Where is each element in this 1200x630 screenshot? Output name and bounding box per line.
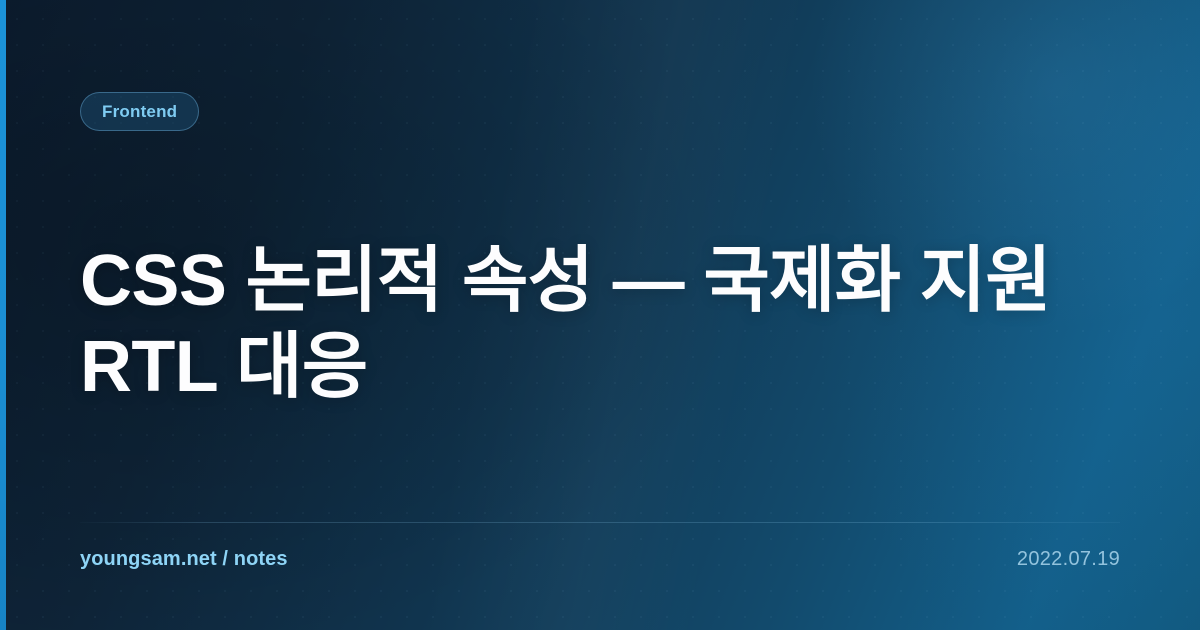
left-accent-bar bbox=[0, 0, 6, 630]
category-badge[interactable]: Frontend bbox=[80, 92, 199, 131]
footer-divider bbox=[80, 522, 1120, 523]
og-card: Frontend CSS 논리적 속성 — 국제화 지원 RTL 대응 youn… bbox=[0, 0, 1200, 630]
footer-site-label[interactable]: youngsam.net / notes bbox=[80, 548, 288, 571]
footer-date-label: 2022.07.19 bbox=[1017, 548, 1120, 571]
card-content: Frontend CSS 논리적 속성 — 국제화 지원 RTL 대응 bbox=[80, 0, 1120, 630]
page-title: CSS 논리적 속성 — 국제화 지원 RTL 대응 bbox=[80, 238, 1090, 410]
category-badge-label: Frontend bbox=[102, 103, 177, 120]
card-footer: youngsam.net / notes 2022.07.19 bbox=[80, 543, 1120, 575]
